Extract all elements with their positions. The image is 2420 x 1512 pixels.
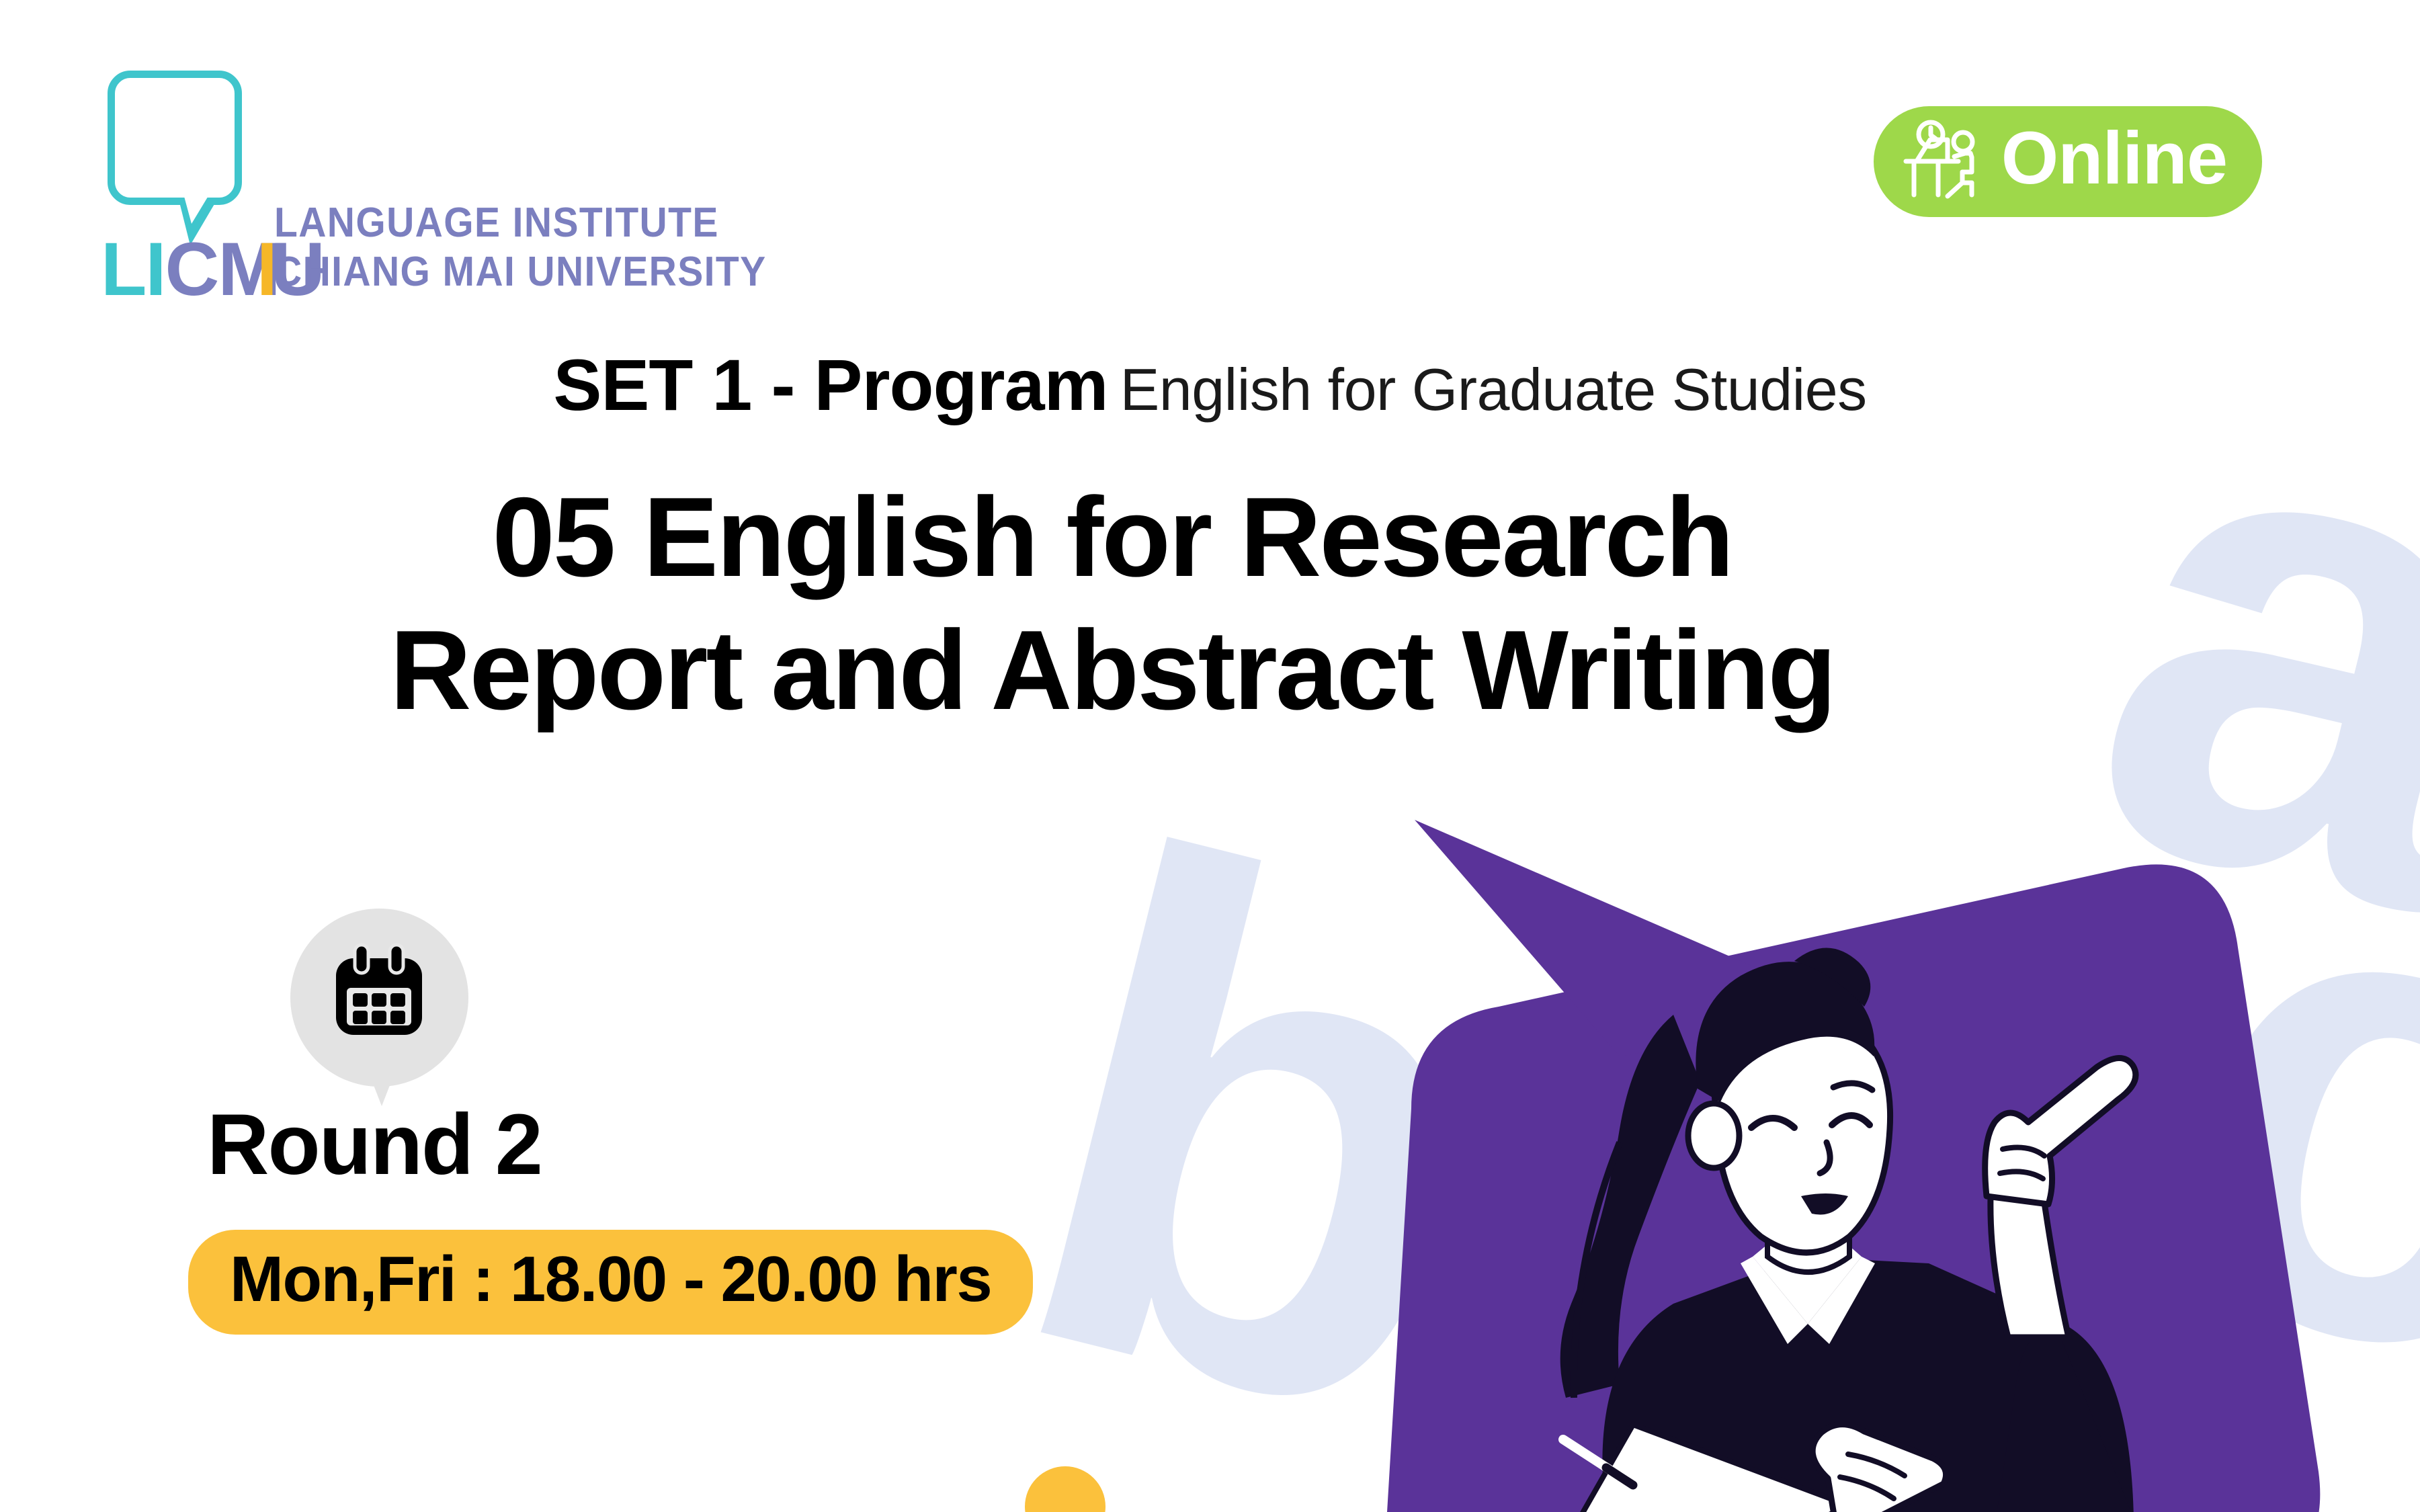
schedule-time-text: Mon,Fri : 18.00 - 20.00 hrs [230,1247,991,1312]
calendar-icon [328,941,430,1052]
instructor-illustration [1270,793,2420,1512]
person-at-desk-with-laptop-and-clock-icon [1901,120,1988,204]
course-title-line1: 05 English for Research [101,470,2124,603]
program-header: SET 1 - ProgramEnglish for Graduate Stud… [0,343,2420,427]
program-name-label: English for Graduate Studies [1120,356,1867,423]
online-badge-label: Online [2001,122,2227,202]
institute-name: LANGUAGE INSTITUTE CHIANG MAI UNIVERSITY [274,198,767,296]
course-title: 05 English for Research Report and Abstr… [101,470,2124,737]
speech-bubble-icon [108,71,242,205]
poster-canvas: a b c LICMIU LANGUAGE INSTITUTE CHIANG M… [0,0,2420,1512]
licmu-logo: LICMIU LANGUAGE INSTITUTE CHIANG MAI UNI… [101,71,773,299]
speech-bubble-tail-inner-icon [183,192,211,224]
logo-wordmark-li: LI [101,227,165,311]
institute-name-line1: LANGUAGE INSTITUTE [274,198,767,247]
course-title-line2: Report and Abstract Writing [101,603,2124,737]
online-badge[interactable]: Online [1874,106,2262,217]
round-label: Round 2 [207,1095,542,1194]
schedule-pill: Mon,Fri : 18.00 - 20.00 hrs [188,1230,1033,1335]
institute-name-line2: CHIANG MAI UNIVERSITY [274,247,767,296]
calendar-bubble [290,909,468,1087]
yellow-dot-decoration [1025,1466,1105,1512]
set-number-label: SET 1 - Program [553,344,1108,425]
